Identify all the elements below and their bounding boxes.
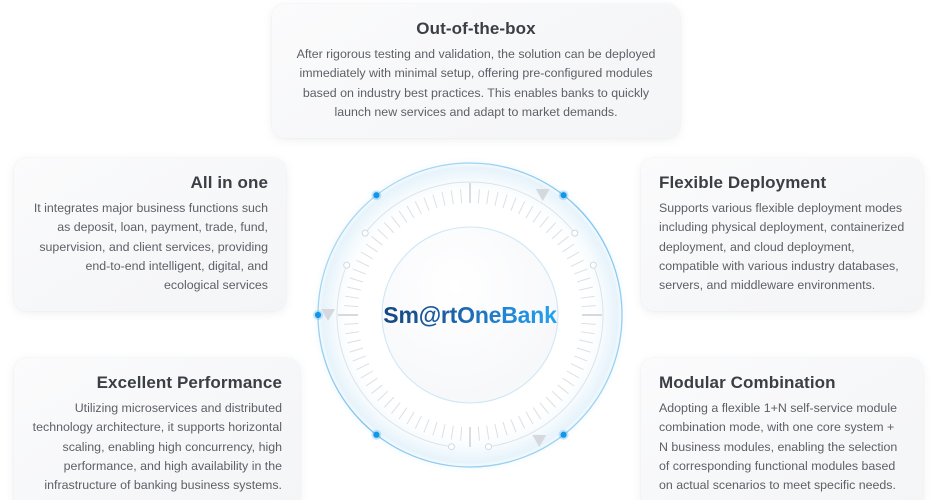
arc-endpoint-dot (572, 230, 578, 236)
central-ring-graphic (305, 150, 635, 480)
accent-dot (315, 312, 321, 318)
card-body: Supports various flexible deployment mod… (659, 199, 905, 295)
arc-endpoint-dot (344, 262, 350, 268)
accent-dot (560, 432, 566, 438)
card-body: Utilizing microservices and distributed … (32, 399, 282, 495)
arc-endpoint-dot (448, 444, 454, 450)
card-title: All in one (32, 172, 268, 193)
card-title: Out-of-the-box (290, 18, 662, 39)
feature-diagram-page: Out-of-the-box After rigorous testing an… (0, 0, 941, 500)
feature-card-modular-combination[interactable]: Modular Combination Adopting a flexible … (641, 358, 923, 500)
feature-card-flexible-deployment[interactable]: Flexible Deployment Supports various fle… (641, 158, 923, 311)
feature-card-out-of-the-box[interactable]: Out-of-the-box After rigorous testing an… (272, 4, 680, 138)
arc-endpoint-dot (362, 230, 368, 236)
card-title: Flexible Deployment (659, 172, 905, 193)
card-title: Excellent Performance (32, 372, 282, 393)
accent-dot (373, 432, 379, 438)
card-body: Adopting a flexible 1+N self-service mod… (659, 399, 905, 495)
arc-endpoint-dot (590, 262, 596, 268)
arc-endpoint-dot (486, 444, 492, 450)
feature-card-all-in-one[interactable]: All in one It integrates major business … (14, 158, 286, 311)
card-body: After rigorous testing and validation, t… (290, 45, 662, 122)
card-body: It integrates major business functions s… (32, 199, 268, 295)
card-title: Modular Combination (659, 372, 905, 393)
accent-dot (373, 192, 379, 198)
feature-card-excellent-performance[interactable]: Excellent Performance Utilizing microser… (14, 358, 300, 500)
accent-dot (560, 192, 566, 198)
inner-disc (382, 227, 558, 403)
